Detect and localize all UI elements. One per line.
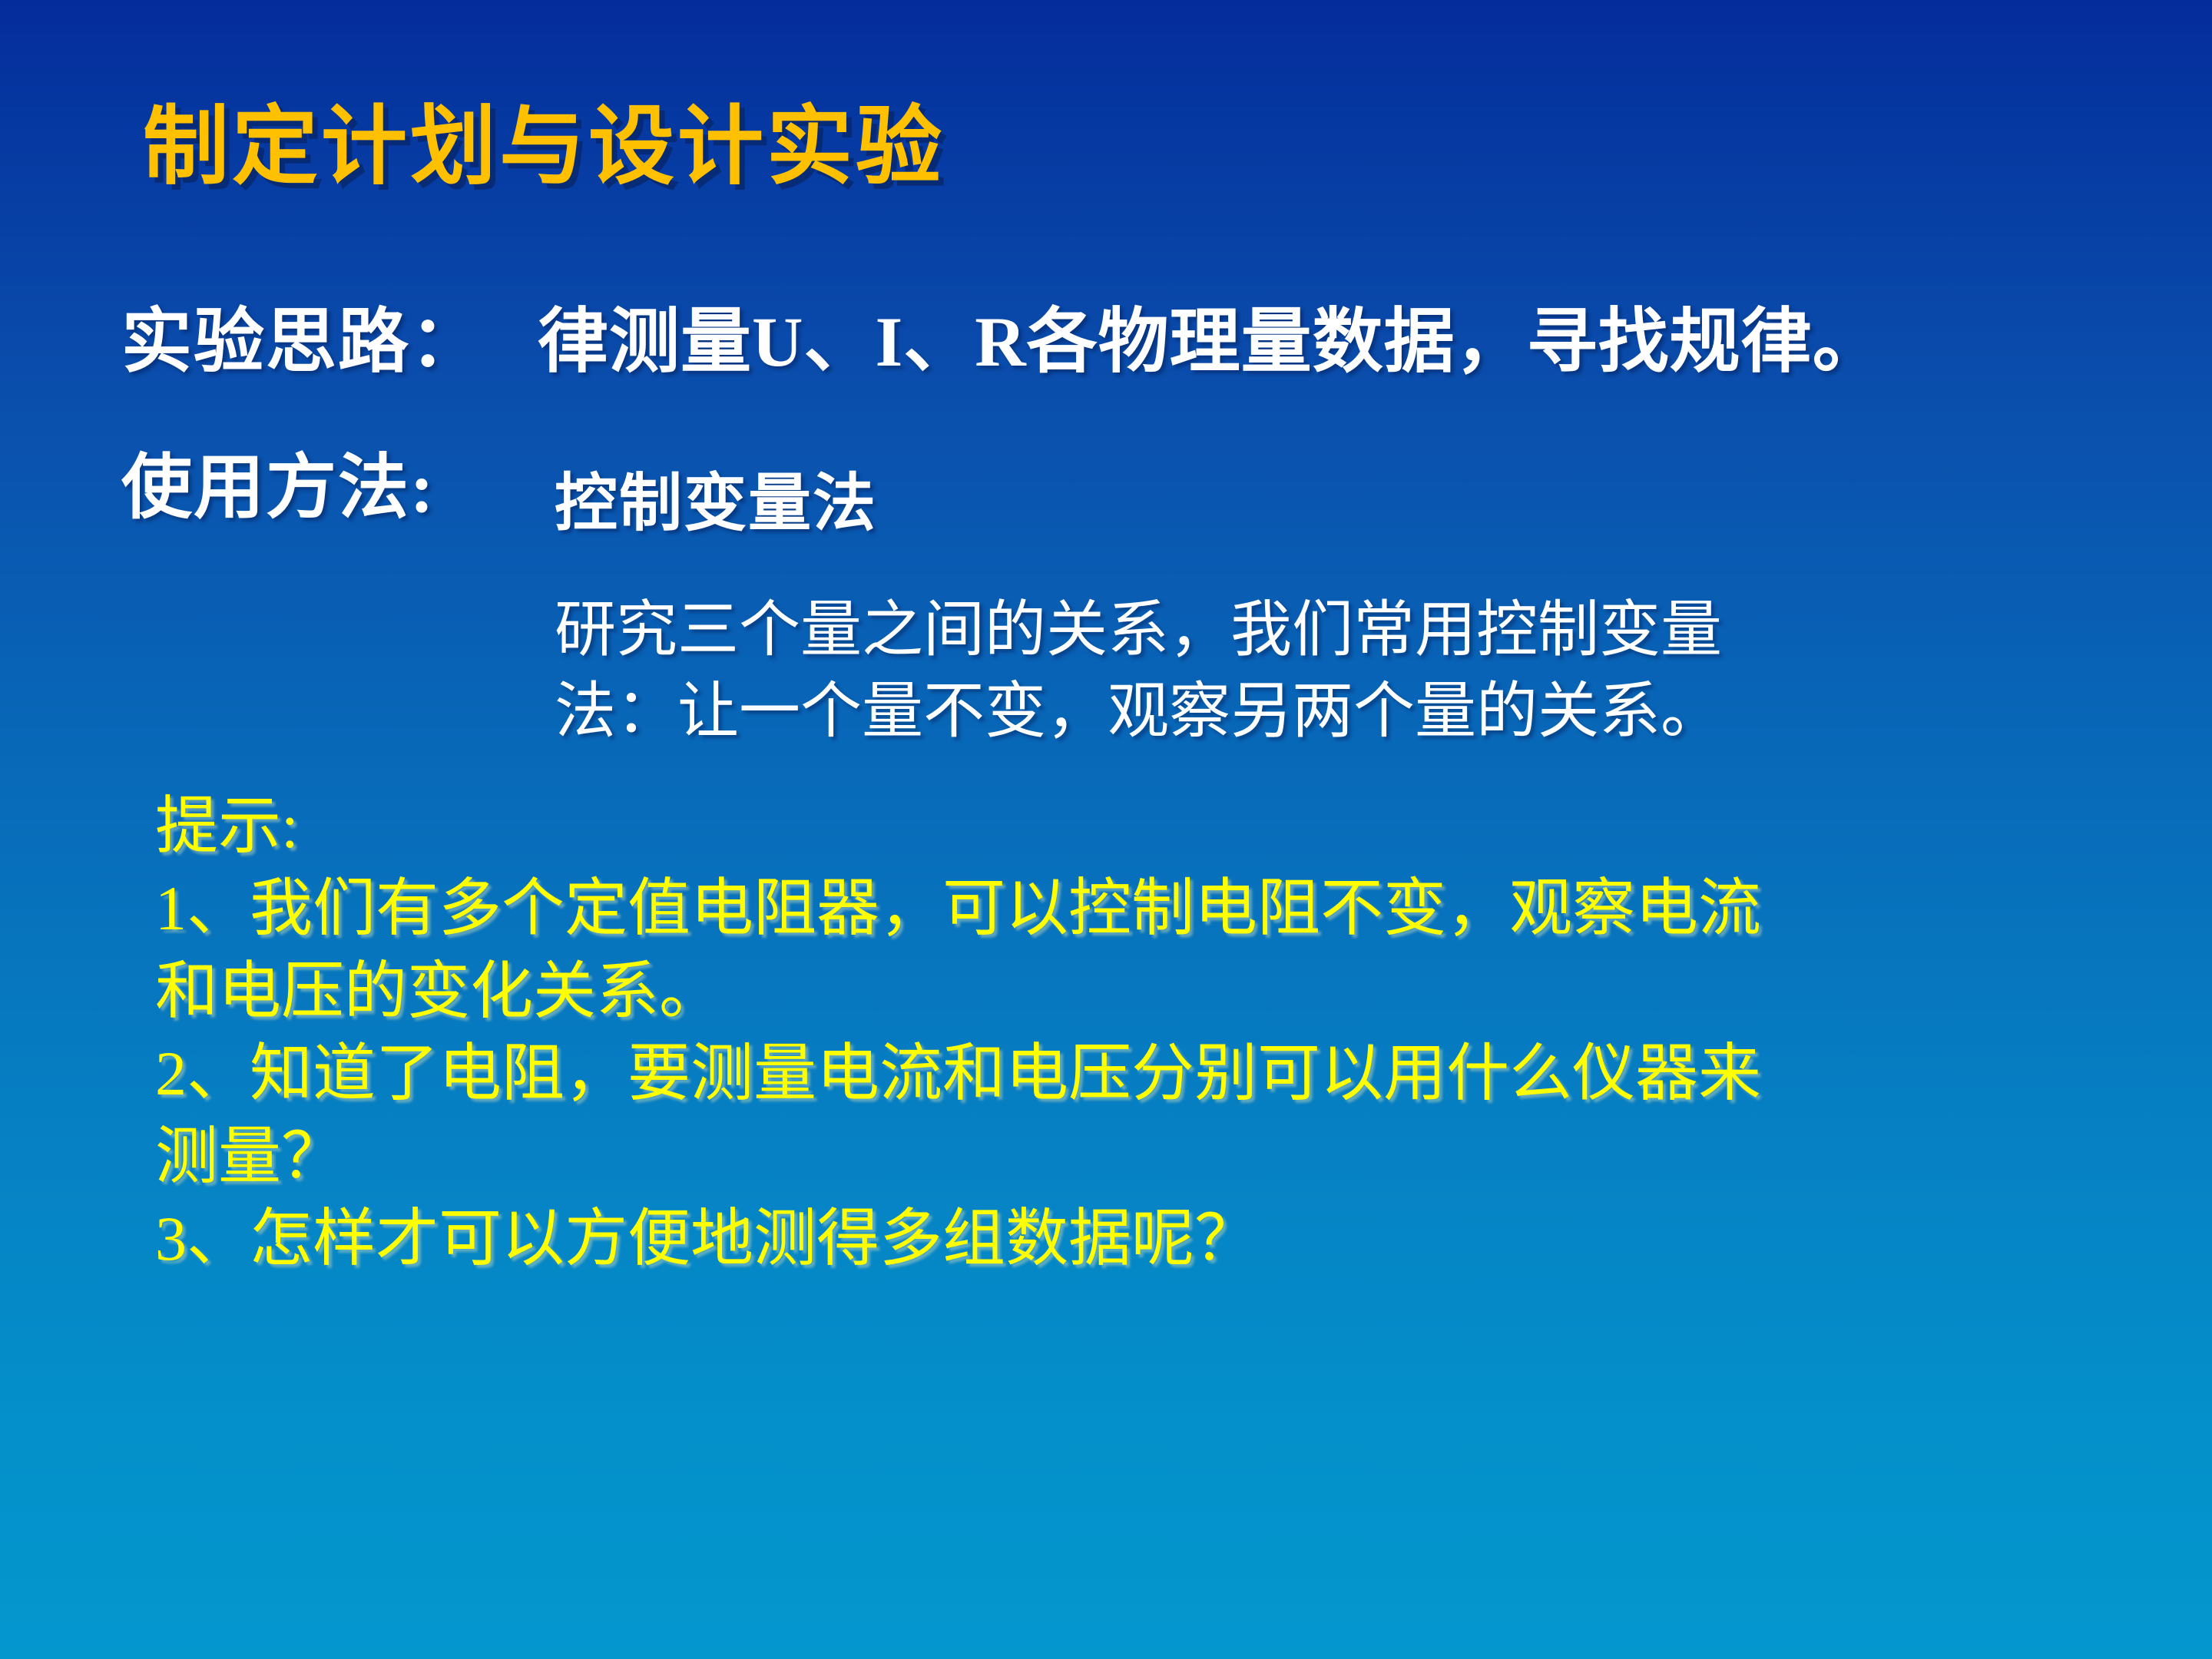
experiment-idea-value: 律测量U、I、R各物理量数据，寻找规律。 [538, 284, 1884, 386]
experiment-idea-label: 实验思路： [121, 284, 482, 386]
hints-heading: 提示: [155, 785, 1998, 867]
hint-item-2-line-2: 测量？ [155, 1115, 1998, 1197]
page-title: 制定计划与设计实验 [143, 98, 945, 197]
hint-item-2-line-1: 2、知道了电阻，要测量电流和电压分别可以用什么仪器来 [155, 1032, 1998, 1114]
hint-item-1-line-1: 1、我们有多个定值电阻器，可以控制电阻不变，观察电流 [155, 867, 1998, 949]
method-description-line-1: 研究三个量之间的关系，我们常用控制变量 [555, 590, 2014, 671]
hint-item-3-line-1: 3、怎样才可以方便地测得多组数据呢？ [155, 1197, 1998, 1280]
method-description: 研究三个量之间的关系，我们常用控制变量 法：让一个量不变，观察另两个量的关系。 [555, 590, 2014, 753]
method-used-label: 使用方法: [121, 430, 435, 532]
hint-item-1-line-2: 和电压的变化关系。 [155, 950, 1998, 1032]
hints-block: 提示: 1、我们有多个定值电阻器，可以控制电阻不变，观察电流 和电压的变化关系。… [155, 785, 1998, 1280]
method-description-line-2: 法：让一个量不变，观察另两个量的关系。 [555, 671, 2014, 753]
slide-canvas: 制定计划与设计实验 实验思路： 律测量U、I、R各物理量数据，寻找规律。 使用方… [0, 0, 2212, 1659]
method-used-value: 控制变量法 [555, 452, 877, 543]
